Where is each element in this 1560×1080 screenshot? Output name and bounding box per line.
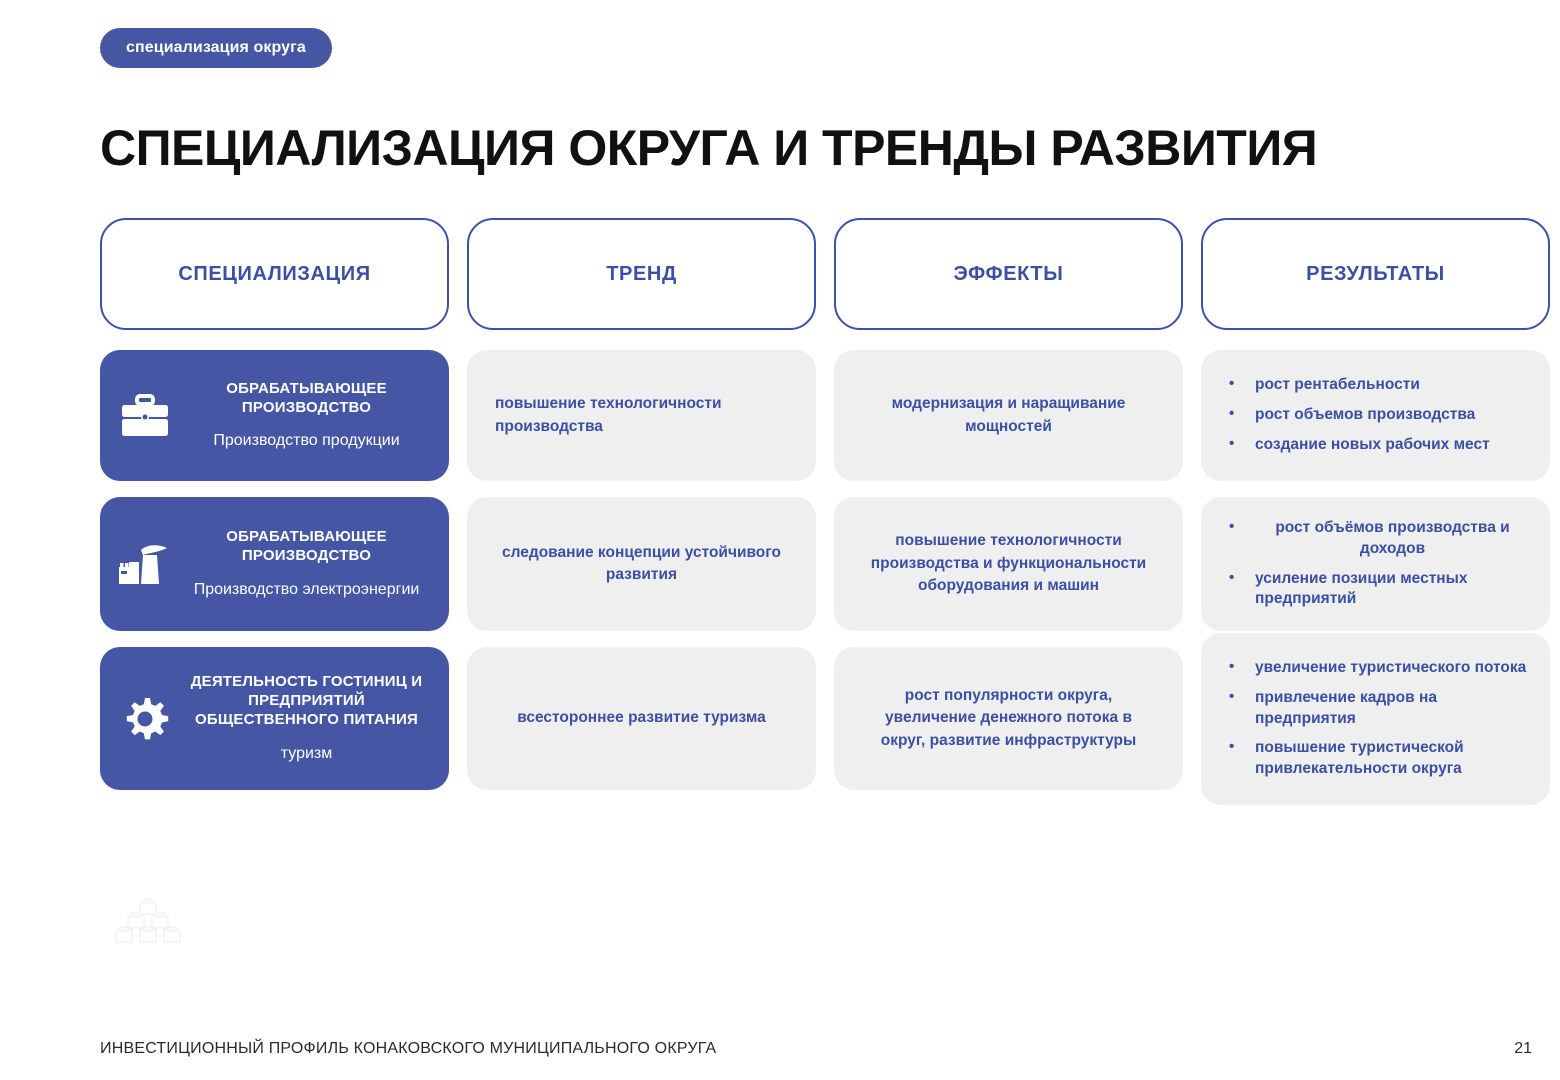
trend-text: следование концепции устойчивого развити… bbox=[495, 542, 788, 587]
column-header-label: ТРЕНД bbox=[606, 263, 677, 286]
stacked-boxes-icon bbox=[112, 898, 184, 950]
matrix-row: ОБРАБАТЫВАЮЩЕЕ ПРОИЗВОДСТВО Производство… bbox=[100, 497, 1460, 631]
matrix-header-row: СПЕЦИАЛИЗАЦИЯ ТРЕНД ЭФФЕКТЫ РЕЗУЛЬТАТЫ bbox=[100, 218, 1460, 330]
section-badge-label: специализация округа bbox=[126, 39, 306, 57]
column-header-label: СПЕЦИАЛИЗАЦИЯ bbox=[178, 263, 370, 286]
specialization-subtitle: туризм bbox=[184, 744, 429, 764]
results-list: рост рентабельности рост объемов произво… bbox=[1223, 366, 1530, 465]
effects-card[interactable]: повышение технологичности производства и… bbox=[834, 497, 1183, 631]
briefcase-icon bbox=[114, 394, 176, 438]
section-badge: специализация округа bbox=[100, 28, 332, 68]
gear-icon bbox=[114, 695, 176, 743]
result-item: усиление позиции местных предприятий bbox=[1223, 569, 1530, 611]
column-header-results[interactable]: РЕЗУЛЬТАТЫ bbox=[1201, 218, 1550, 330]
specialization-matrix: СПЕЦИАЛИЗАЦИЯ ТРЕНД ЭФФЕКТЫ РЕЗУЛЬТАТЫ bbox=[100, 218, 1460, 821]
trend-card[interactable]: повышение технологичности производства bbox=[467, 350, 816, 481]
results-list: рост объёмов производства и доходов усил… bbox=[1223, 509, 1530, 620]
matrix-row: ОБРАБАТЫВАЮЩЕЕ ПРОИЗВОДСТВО Производство… bbox=[100, 350, 1460, 481]
result-item: рост объемов производства bbox=[1223, 405, 1530, 426]
footer-caption: ИНВЕСТИЦИОННЫЙ ПРОФИЛЬ КОНАКОВСКОГО МУНИ… bbox=[100, 1040, 716, 1058]
result-item: повышение туристической привлекательност… bbox=[1223, 738, 1530, 780]
specialization-card[interactable]: ДЕЯТЕЛЬНОСТЬ ГОСТИНИЦ И ПРЕДПРИЯТИЙ ОБЩЕ… bbox=[100, 647, 449, 790]
specialization-title: ОБРАБАТЫВАЮЩЕЕ ПРОИЗВОДСТВО bbox=[184, 380, 429, 418]
column-header-label: РЕЗУЛЬТАТЫ bbox=[1306, 263, 1445, 286]
result-item: создание новых рабочих мест bbox=[1223, 435, 1530, 456]
specialization-title: ОБРАБАТЫВАЮЩЕЕ ПРОИЗВОДСТВО bbox=[184, 528, 429, 566]
specialization-text: ОБРАБАТЫВАЮЩЕЕ ПРОИЗВОДСТВО Производство… bbox=[184, 380, 433, 452]
results-list: увеличение туристического потока привлеч… bbox=[1223, 649, 1530, 790]
specialization-title: ДЕЯТЕЛЬНОСТЬ ГОСТИНИЦ И ПРЕДПРИЯТИЙ ОБЩЕ… bbox=[184, 673, 429, 729]
effects-text: повышение технологичности производства и… bbox=[862, 530, 1155, 597]
column-header-trend[interactable]: ТРЕНД bbox=[467, 218, 816, 330]
effects-text: модернизация и наращивание мощностей bbox=[862, 393, 1155, 438]
effects-text: рост популярности округа, увеличение ден… bbox=[862, 685, 1155, 752]
result-item: рост рентабельности bbox=[1223, 375, 1530, 396]
page-number: 21 bbox=[1514, 1040, 1532, 1058]
trend-text: повышение технологичности производства bbox=[495, 393, 788, 438]
specialization-subtitle: Производство продукции bbox=[184, 431, 429, 451]
column-header-label: ЭФФЕКТЫ bbox=[954, 263, 1064, 286]
specialization-subtitle: Производство электроэнергии bbox=[184, 580, 429, 600]
specialization-card[interactable]: ОБРАБАТЫВАЮЩЕЕ ПРОИЗВОДСТВО Производство… bbox=[100, 350, 449, 481]
trend-text: всестороннее развитие туризма bbox=[495, 707, 788, 729]
result-item: рост объёмов производства и доходов bbox=[1223, 518, 1530, 560]
effects-card[interactable]: модернизация и наращивание мощностей bbox=[834, 350, 1183, 481]
results-card[interactable]: увеличение туристического потока привлеч… bbox=[1201, 633, 1550, 805]
result-item: привлечение кадров на предприятия bbox=[1223, 688, 1530, 730]
result-item: увеличение туристического потока bbox=[1223, 658, 1530, 679]
column-header-specialization[interactable]: СПЕЦИАЛИЗАЦИЯ bbox=[100, 218, 449, 330]
specialization-card[interactable]: ОБРАБАТЫВАЮЩЕЕ ПРОИЗВОДСТВО Производство… bbox=[100, 497, 449, 631]
matrix-row: ДЕЯТЕЛЬНОСТЬ ГОСТИНИЦ И ПРЕДПРИЯТИЙ ОБЩЕ… bbox=[100, 647, 1460, 805]
results-card[interactable]: рост объёмов производства и доходов усил… bbox=[1201, 497, 1550, 631]
factory-icon bbox=[114, 542, 176, 586]
effects-card[interactable]: рост популярности округа, увеличение ден… bbox=[834, 647, 1183, 790]
page-title: СПЕЦИАЛИЗАЦИЯ ОКРУГА И ТРЕНДЫ РАЗВИТИЯ bbox=[100, 122, 1317, 175]
column-header-effects[interactable]: ЭФФЕКТЫ bbox=[834, 218, 1183, 330]
specialization-text: ДЕЯТЕЛЬНОСТЬ ГОСТИНИЦ И ПРЕДПРИЯТИЙ ОБЩЕ… bbox=[184, 673, 433, 763]
results-card[interactable]: рост рентабельности рост объемов произво… bbox=[1201, 350, 1550, 481]
specialization-text: ОБРАБАТЫВАЮЩЕЕ ПРОИЗВОДСТВО Производство… bbox=[184, 528, 433, 600]
trend-card[interactable]: всестороннее развитие туризма bbox=[467, 647, 816, 790]
trend-card[interactable]: следование концепции устойчивого развити… bbox=[467, 497, 816, 631]
